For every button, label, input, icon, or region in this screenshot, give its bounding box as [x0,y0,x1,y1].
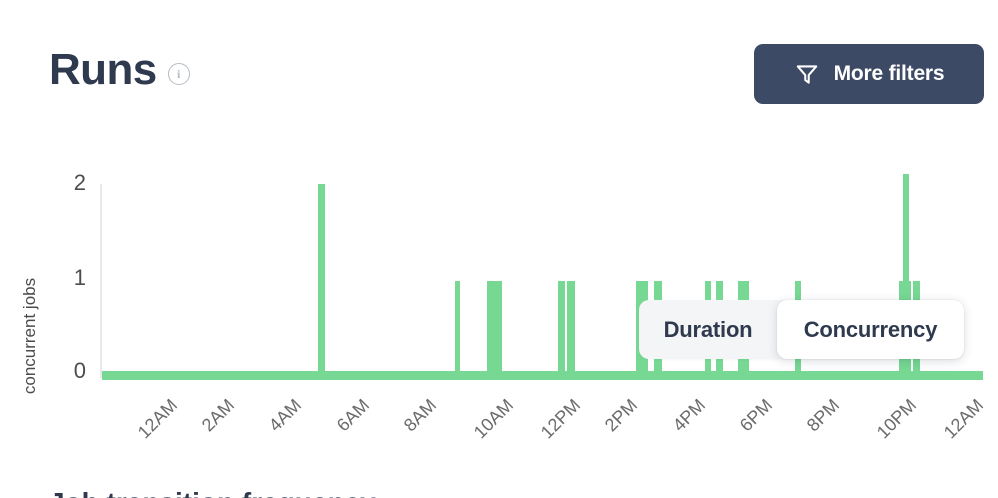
chart-bar[interactable] [455,281,460,378]
chart-bar[interactable] [318,184,325,377]
page-header: Runs i More filters [0,0,998,130]
x-tick-label: 4PM [669,395,710,436]
chart-bar[interactable] [558,281,565,378]
x-tick-label: 10PM [873,395,921,443]
chart-bar[interactable] [567,281,575,378]
x-tick-label: 12PM [537,395,585,443]
x-tick-label: 12AM [940,395,988,443]
more-filters-label: More filters [834,62,945,86]
x-tick-label: 10AM [470,395,518,443]
x-tick-label: 8AM [400,395,441,436]
x-tick-label: 8PM [803,395,844,436]
x-tick-label: 6AM [333,395,374,436]
next-section-heading-clipped: Job transition frequency [49,486,376,498]
page-title-group: Runs i [49,46,190,94]
chart-bar[interactable] [487,281,502,378]
toggle-option-concurrency[interactable]: Concurrency [777,300,964,359]
y-tick-0: 0 [52,358,86,384]
x-tick-label: 2AM [198,395,239,436]
y-tick-1: 1 [52,265,86,291]
y-tick-2: 2 [52,170,86,196]
toggle-option-duration[interactable]: Duration [639,300,777,359]
x-tick-label: 4AM [265,395,306,436]
chart-mode-toggle[interactable]: Duration Concurrency [639,300,964,359]
funnel-filter-icon [794,61,820,87]
x-axis-baseline [102,371,983,380]
page-title: Runs [49,46,157,94]
x-tick-label: 12AM [134,395,182,443]
more-filters-button[interactable]: More filters [754,44,984,104]
info-circle-icon[interactable]: i [168,63,190,85]
x-tick-label: 2PM [601,395,642,436]
page-root: Runs i More filters concurrent jobs 2 1 … [0,0,998,498]
concurrency-chart: concurrent jobs 2 1 0 12AM2AM4AM6AM8AM10… [0,130,998,470]
x-tick-label: 6PM [736,395,777,436]
x-axis-tick-labels: 12AM2AM4AM6AM8AM10AM12PM2PM4PM6PM8PM10PM… [0,395,998,470]
